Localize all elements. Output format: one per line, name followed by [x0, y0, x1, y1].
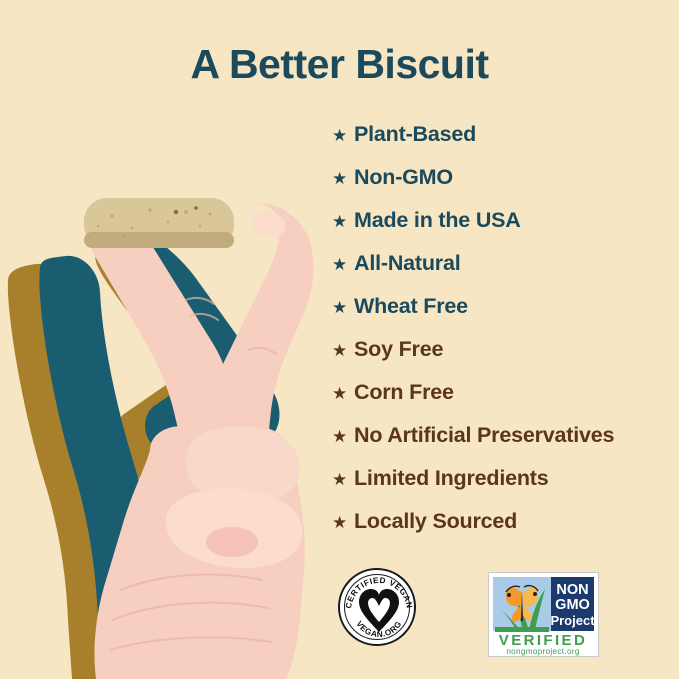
- feature-item-limited-ingredients: ★ Limited Ingredients: [332, 468, 672, 511]
- page-title: A Better Biscuit: [0, 44, 679, 85]
- feature-label: Corn Free: [354, 382, 454, 404]
- feature-item-all-natural: ★ All-Natural: [332, 253, 672, 296]
- nongmo-line3: Project: [550, 613, 595, 628]
- certification-badge-row: CERTIFIED VEGAN VEGAN.ORG: [330, 560, 620, 665]
- non-gmo-project-verified-badge: NON GMO Project VERIFIED nongmoproject.o…: [488, 572, 599, 657]
- nongmo-url-text: nongmoproject.org: [506, 647, 580, 656]
- star-icon: ★: [332, 256, 354, 273]
- feature-label: Wheat Free: [354, 296, 468, 318]
- star-icon: ★: [332, 170, 354, 187]
- feature-item-plant-based: ★ Plant-Based: [332, 124, 672, 167]
- star-icon: ★: [332, 127, 354, 144]
- feature-label: Soy Free: [354, 339, 443, 361]
- star-icon: ★: [332, 385, 354, 402]
- feature-item-locally-sourced: ★ Locally Sourced: [332, 511, 672, 554]
- star-icon: ★: [332, 471, 354, 488]
- star-icon: ★: [332, 213, 354, 230]
- feature-label: Limited Ingredients: [354, 468, 549, 490]
- feature-item-made-in-the-usa: ★ Made in the USA: [332, 210, 672, 253]
- star-icon: ★: [332, 299, 354, 316]
- product-infographic: A Better Biscuit: [0, 0, 679, 679]
- feature-label: Made in the USA: [354, 210, 521, 232]
- star-icon: ★: [332, 514, 354, 531]
- star-icon: ★: [332, 342, 354, 359]
- feature-label: Locally Sourced: [354, 511, 517, 533]
- feature-label: Non-GMO: [354, 167, 453, 189]
- feature-item-wheat-free: ★ Wheat Free: [332, 296, 672, 339]
- feature-label: No Artificial Preservatives: [354, 425, 614, 447]
- feature-list: ★ Plant-Based ★ Non-GMO ★ Made in the US…: [332, 124, 672, 554]
- feature-item-soy-free: ★ Soy Free: [332, 339, 672, 382]
- feature-item-non-gmo: ★ Non-GMO: [332, 167, 672, 210]
- nongmo-line2: GMO: [555, 597, 590, 613]
- feature-item-no-artificial-preservatives: ★ No Artificial Preservatives: [332, 425, 672, 468]
- feature-item-corn-free: ★ Corn Free: [332, 382, 672, 425]
- feature-label: Plant-Based: [354, 124, 476, 146]
- feature-label: All-Natural: [354, 253, 461, 275]
- nongmo-line1: NON: [556, 582, 588, 598]
- biscuit-shape: [84, 198, 234, 248]
- hand-peace-sign-holding-biscuit-illustration: [0, 150, 330, 679]
- star-icon: ★: [332, 428, 354, 445]
- certified-vegan-badge: CERTIFIED VEGAN VEGAN.ORG: [338, 568, 416, 646]
